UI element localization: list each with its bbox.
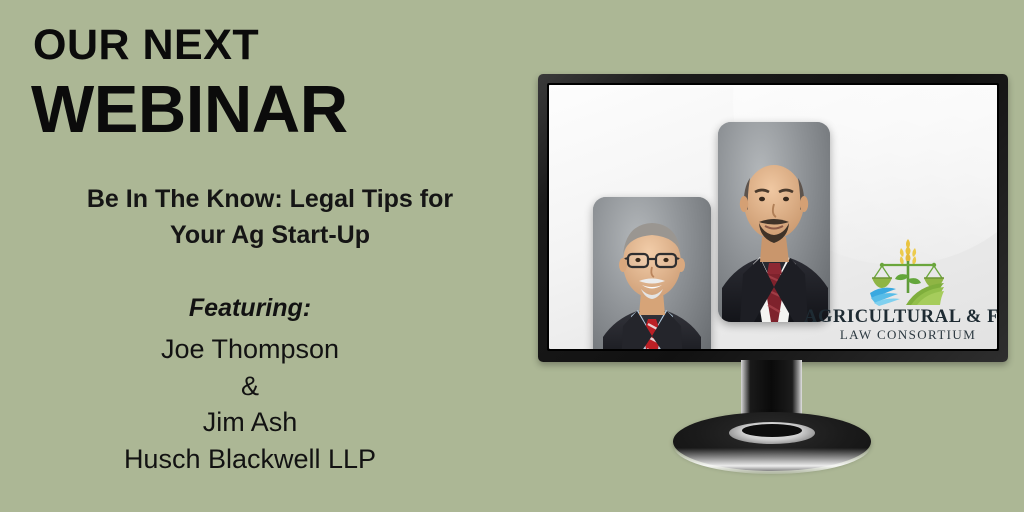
monitor-bezel-inner: AGRICULTURAL & FOOD LAW CONSORTIUM: [547, 83, 999, 351]
monitor-screen: AGRICULTURAL & FOOD LAW CONSORTIUM: [549, 85, 997, 349]
consortium-logo: AGRICULTURAL & FOOD LAW CONSORTIUM: [804, 235, 997, 343]
webinar-promo-graphic: OUR NEXT WEBINAR Be In The Know: Legal T…: [0, 0, 1024, 512]
monitor-stand-collar-hole: [742, 424, 802, 437]
presenter-separator: &: [40, 368, 460, 405]
presenter-name: Joe Thompson: [40, 331, 460, 368]
promo-subtitle-line-1: Be In The Know: Legal Tips for: [40, 182, 500, 218]
promo-subtitle-line-2: Your Ag Start-Up: [40, 218, 500, 254]
field-rows-icon: [906, 283, 944, 305]
logo-title: AGRICULTURAL & FOOD: [804, 308, 997, 327]
portrait-photo-joe-thompson: [593, 197, 711, 349]
monitor-bezel: AGRICULTURAL & FOOD LAW CONSORTIUM: [538, 74, 1008, 362]
screen-top-sheen: [549, 85, 997, 89]
monitor-illustration: AGRICULTURAL & FOOD LAW CONSORTIUM: [530, 64, 1016, 454]
promo-text-column: OUR NEXT WEBINAR Be In The Know: Legal T…: [0, 0, 520, 512]
scales-wheat-waves-icon: [862, 235, 954, 307]
promo-kicker: OUR NEXT: [33, 24, 259, 67]
featuring-label: Featuring:: [40, 296, 460, 321]
presenter-portrait: [593, 197, 711, 349]
promo-subtitle: Be In The Know: Legal Tips for Your Ag S…: [40, 182, 500, 253]
presenter-name: Jim Ash: [40, 404, 460, 441]
presenter-firm: Husch Blackwell LLP: [40, 441, 460, 478]
logo-subtitle: LAW CONSORTIUM: [804, 327, 997, 343]
water-waves-icon: [870, 288, 900, 306]
presenter-list: Joe Thompson & Jim Ash Husch Blackwell L…: [40, 331, 460, 478]
promo-headline: WEBINAR: [31, 76, 348, 143]
